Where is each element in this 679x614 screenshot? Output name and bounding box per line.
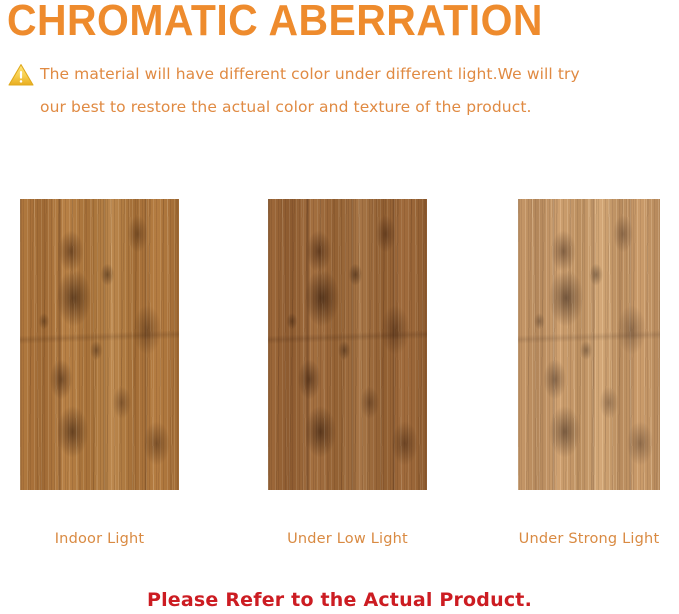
sample-swatch-strong-light bbox=[518, 199, 660, 490]
sample-caption-low-light: Under Low Light bbox=[268, 531, 427, 547]
sample-swatch-indoor-light bbox=[20, 199, 179, 490]
wood-texture-image bbox=[268, 199, 427, 490]
warning-triangle-icon bbox=[8, 63, 34, 87]
wood-texture-image bbox=[20, 199, 179, 490]
notice-line-2: our best to restore the actual color and… bbox=[40, 91, 676, 124]
wood-texture-image bbox=[518, 199, 660, 490]
sample-swatch-row bbox=[0, 199, 679, 490]
footer-disclaimer: Please Refer to the Actual Product. bbox=[0, 589, 679, 611]
page-title: CHROMATIC ABERRATION bbox=[7, 0, 543, 46]
sample-caption-indoor-light: Indoor Light bbox=[20, 531, 179, 547]
sample-swatch-low-light bbox=[268, 199, 427, 490]
notice-text: The material will have different color u… bbox=[40, 58, 676, 124]
notice-line-1: The material will have different color u… bbox=[40, 65, 580, 83]
sample-caption-strong-light: Under Strong Light bbox=[518, 531, 660, 547]
